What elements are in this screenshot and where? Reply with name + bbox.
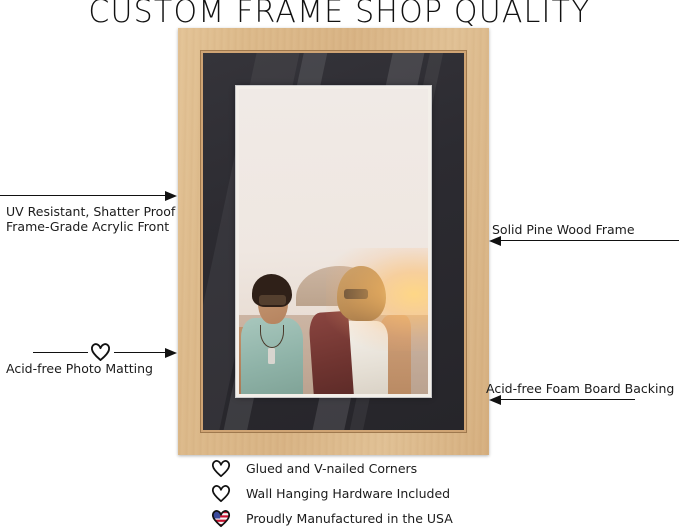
callout-acrylic-front-line1: UV Resistant, Shatter Proof (6, 204, 175, 219)
photo-man-sunglasses (259, 295, 286, 305)
photo-man-dogtag (268, 348, 275, 364)
callout-photo-matting-label: Acid-free Photo Matting (6, 361, 153, 376)
photo-woman-sunglasses (344, 289, 369, 299)
heart-usa-flag-icon (211, 508, 235, 528)
page-title: CUSTOM FRAME SHOP QUALITY (0, 0, 679, 30)
list-item: Glued and V-nailed Corners (211, 456, 511, 480)
heart-outline-icon (90, 342, 111, 362)
arrow-right-icon (165, 348, 177, 358)
list-item: Proudly Manufactured in the USA (211, 506, 511, 530)
picture-frame (178, 28, 489, 455)
photo-woman-jacket (308, 310, 354, 394)
feature-list: Glued and V-nailed Corners Wall Hanging … (211, 456, 511, 530)
callout-acrylic-front-line2: Frame-Grade Acrylic Front (6, 219, 169, 234)
arrow-left-icon (489, 395, 501, 405)
callout-foam-backing-label: Acid-free Foam Board Backing (486, 381, 674, 396)
callout-line-matting-right (114, 352, 166, 353)
callout-line-foam-backing (501, 399, 635, 400)
heart-outline-icon (211, 458, 235, 478)
heart-outline-icon (211, 483, 235, 503)
arrow-right-icon (165, 191, 177, 201)
callout-pine-frame-label: Solid Pine Wood Frame (492, 222, 635, 237)
mat-bevel (236, 86, 431, 397)
list-item: Wall Hanging Hardware Included (211, 481, 511, 505)
feature-label: Proudly Manufactured in the USA (246, 511, 453, 526)
callout-line-pine-frame (501, 240, 679, 241)
feature-label: Glued and V-nailed Corners (246, 461, 417, 476)
feature-label: Wall Hanging Hardware Included (246, 486, 450, 501)
callout-line-matting-left (33, 352, 88, 353)
product-infographic: CUSTOM FRAME SHOP QUALITY (0, 0, 679, 530)
callout-line-acrylic-front (0, 195, 166, 196)
photo-image (239, 89, 428, 394)
arrow-left-icon (489, 236, 501, 246)
